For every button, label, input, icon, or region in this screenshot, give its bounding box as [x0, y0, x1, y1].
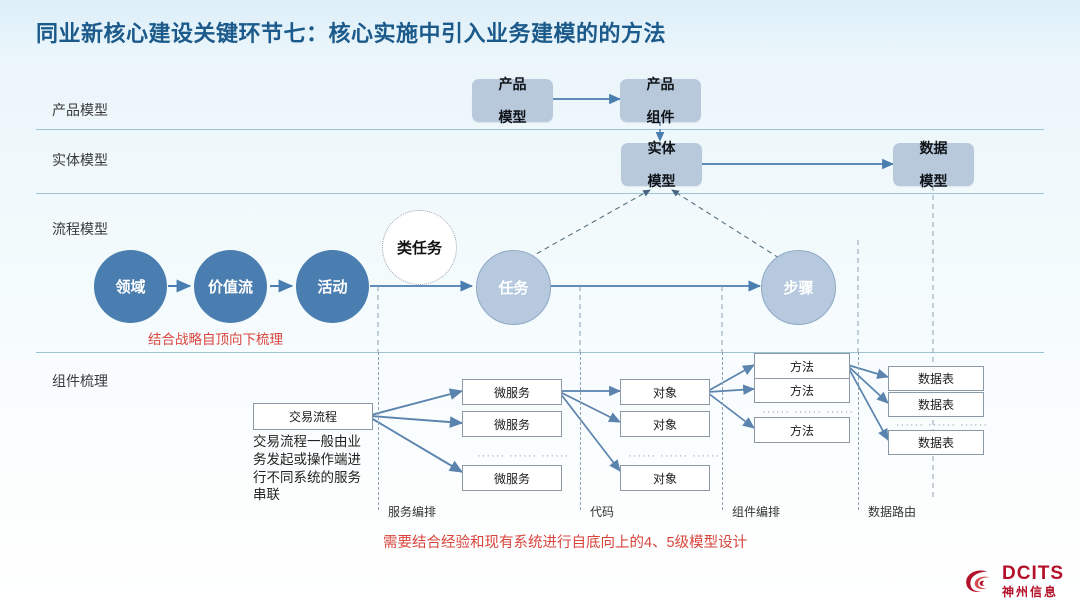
column-divider-component	[722, 352, 723, 510]
box-datatable-2[interactable]: 数据表	[888, 392, 984, 417]
box-microservice-1[interactable]: 微服务	[462, 379, 562, 405]
box-object-2[interactable]: 对象	[620, 411, 710, 437]
box-microservice-3[interactable]: 微服务	[462, 465, 562, 491]
row-label-product-model: 产品模型	[52, 100, 108, 120]
circle-domain[interactable]: 领域	[94, 250, 167, 323]
box-object-3[interactable]: 对象	[620, 465, 710, 491]
box-data-model-line2: 模型	[920, 173, 948, 190]
dcits-swirl-icon	[962, 564, 996, 598]
process-red-note: 结合战略自顶向下梳理	[148, 328, 283, 348]
box-entity-model-line2: 模型	[648, 173, 676, 190]
column-divider-data	[858, 352, 859, 510]
logo-text-cn: 神州信息	[1002, 586, 1064, 598]
component-red-note: 需要结合经验和现有系统进行自底向上的4、5级模型设计	[383, 531, 747, 552]
box-product-component-line2: 组件	[647, 109, 675, 126]
logo-text-en: DCITS	[1002, 564, 1064, 583]
box-entity-model-line1: 实体	[648, 140, 676, 157]
slide-canvas: 同业新核心建设关键环节七：核心实施中引入业务建模的的方法 产品模型 实体模型 流…	[0, 0, 1080, 608]
column-caption-data-routing: 数据路由	[868, 503, 916, 520]
column-divider-service	[378, 352, 379, 510]
box-product-component-line1: 产品	[647, 76, 675, 93]
box-method-1[interactable]: 方法	[754, 353, 850, 379]
divider-product-entity	[36, 129, 1044, 130]
box-entity-model[interactable]: 实体 模型	[621, 143, 702, 186]
page-title: 同业新核心建设关键环节七：核心实施中引入业务建模的的方法	[36, 16, 666, 48]
box-data-model-line1: 数据	[920, 140, 948, 157]
circle-task-class[interactable]: 类任务	[382, 210, 457, 285]
microservice-ellipsis: ······ ······ ······	[477, 450, 569, 462]
circle-value-stream[interactable]: 价值流	[194, 250, 267, 323]
row-label-entity-model: 实体模型	[52, 150, 108, 170]
box-datatable-1[interactable]: 数据表	[888, 366, 984, 391]
row-label-process-model: 流程模型	[52, 219, 108, 239]
object-ellipsis: ······ ······ ······	[628, 450, 720, 462]
row-label-component-survey: 组件梳理	[52, 371, 108, 391]
box-datatable-3[interactable]: 数据表	[888, 430, 984, 455]
box-product-model[interactable]: 产品 模型	[472, 79, 553, 122]
box-object-1[interactable]: 对象	[620, 379, 710, 405]
transaction-flow-note: 交易流程一般由业务发起或操作端进行不同系统的服务串联	[253, 433, 371, 504]
divider-entity-process	[36, 193, 1044, 194]
box-microservice-2[interactable]: 微服务	[462, 411, 562, 437]
circle-task[interactable]: 任务	[476, 250, 551, 325]
column-caption-service-orchestration: 服务编排	[388, 503, 436, 520]
box-transaction-flow[interactable]: 交易流程	[253, 403, 373, 430]
box-method-2[interactable]: 方法	[754, 378, 850, 403]
box-data-model[interactable]: 数据 模型	[893, 143, 974, 186]
column-divider-code	[580, 352, 581, 510]
box-product-model-line2: 模型	[499, 109, 527, 126]
divider-process-component	[36, 352, 1044, 353]
column-caption-component-orchestration: 组件编排	[732, 503, 780, 520]
box-product-component[interactable]: 产品 组件	[620, 79, 701, 122]
box-method-3[interactable]: 方法	[754, 417, 850, 443]
brand-logo: DCITS 神州信息	[962, 564, 1064, 598]
circle-activity[interactable]: 活动	[296, 250, 369, 323]
circle-step[interactable]: 步骤	[761, 250, 836, 325]
box-product-model-line1: 产品	[499, 76, 527, 93]
column-caption-code: 代码	[590, 503, 614, 520]
